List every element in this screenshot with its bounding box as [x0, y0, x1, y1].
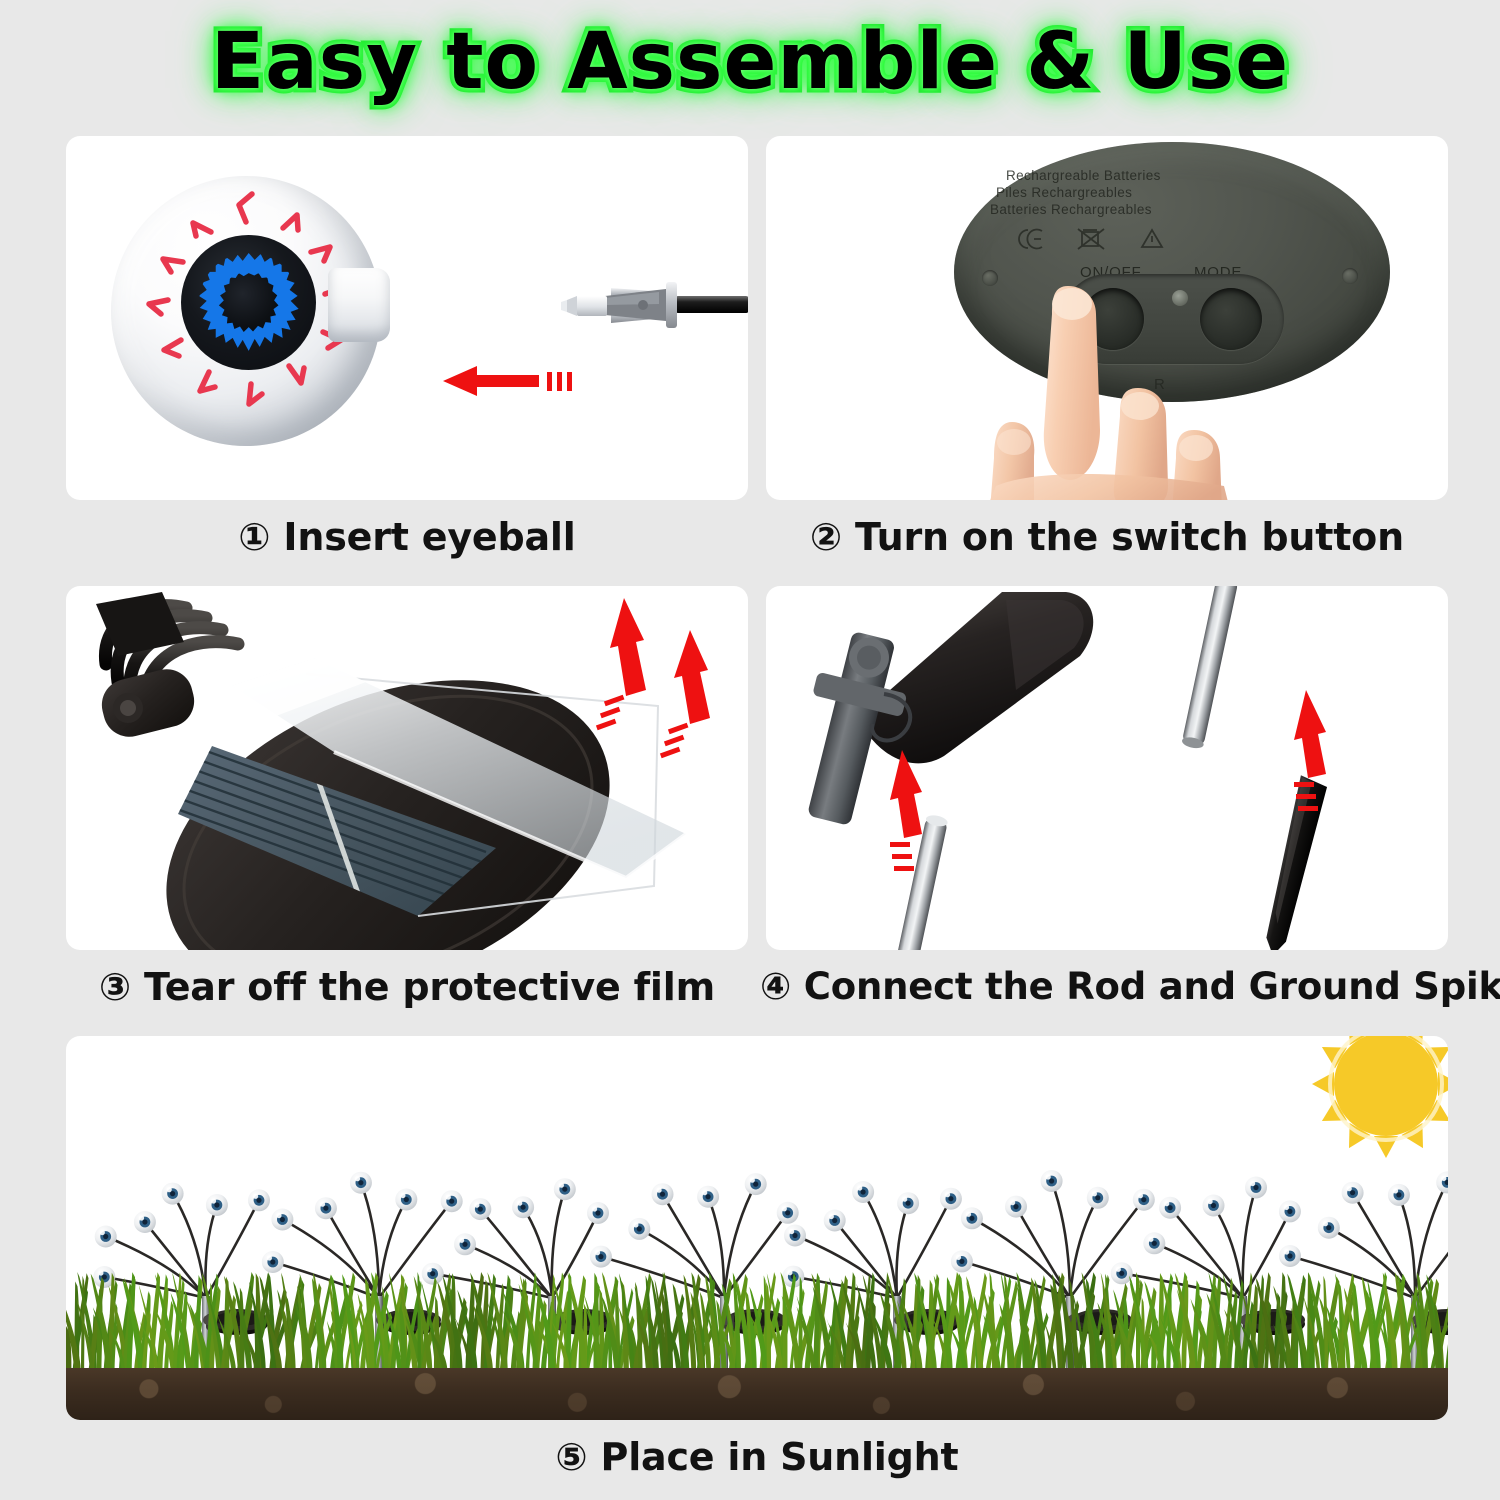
eyeball-light — [395, 1189, 417, 1211]
eyeball-light — [1278, 1200, 1300, 1222]
eyeball-light — [134, 1211, 156, 1233]
soil-strip — [66, 1368, 1448, 1420]
metal-rod — [895, 814, 948, 950]
eyeball-light — [1245, 1177, 1267, 1199]
eyeball-light — [1436, 1171, 1448, 1193]
up-arrow-icon — [596, 598, 646, 730]
wheelie-bin-crossed-icon — [1078, 229, 1104, 249]
step-3-caption: ③ Tear off the protective film — [66, 964, 748, 1010]
solar-head-socket — [784, 592, 1094, 832]
eyeball-light — [897, 1192, 919, 1214]
battery-cover-line-3: Batteries Rechargreables — [990, 202, 1152, 218]
ground-spike — [1263, 775, 1328, 950]
eyeball-light — [961, 1207, 983, 1229]
warning-triangle-icon — [1142, 230, 1162, 247]
step-3-panel — [66, 586, 748, 950]
left-arrow-icon — [443, 364, 583, 398]
step-1-caption: ① Insert eyeball — [66, 514, 748, 560]
step-1-panel — [66, 136, 748, 500]
eyeball-light — [1159, 1197, 1181, 1219]
lawn-scene — [66, 1036, 1448, 1420]
eyeball-light — [587, 1202, 609, 1224]
eyeball-light — [1143, 1232, 1165, 1254]
rod-and-spike-diagram — [766, 586, 1448, 950]
solar-panel-head — [66, 586, 748, 950]
eyeball-light — [1005, 1196, 1027, 1218]
eyeball-light — [940, 1188, 962, 1210]
hand-pressing-button — [972, 280, 1262, 500]
eyeball-light — [440, 1190, 462, 1212]
eyeball-light — [1202, 1195, 1224, 1217]
up-arrow-icon — [660, 630, 710, 758]
step-4-caption: ④ Connect the Rod and Ground Spike — [760, 964, 1456, 1010]
eyeball-light — [629, 1218, 651, 1240]
eyeball-light — [1040, 1170, 1062, 1192]
eyeball-light — [350, 1172, 372, 1194]
grass-blades — [66, 1264, 1448, 1372]
eyeball-light — [745, 1173, 767, 1195]
eyeball-light — [1388, 1184, 1410, 1206]
eyeball-light — [1318, 1217, 1340, 1239]
eyeball-light — [852, 1181, 874, 1203]
eyeball-light — [454, 1233, 476, 1255]
connector-part — [559, 278, 748, 334]
eyeball-light — [271, 1209, 293, 1231]
battery-cover-line-1: Rechargreable Batteries — [1006, 168, 1161, 184]
eyeball-light — [315, 1197, 337, 1219]
metal-rod — [1181, 586, 1238, 750]
eyeball-light — [206, 1194, 228, 1216]
step-5-panel — [66, 1036, 1448, 1420]
eyeball-light — [1087, 1187, 1109, 1209]
step-2-panel: Rechargreable Batteries Piles Rechargrea… — [766, 136, 1448, 500]
eyeball-light — [652, 1183, 674, 1205]
step-4-panel — [766, 586, 1448, 950]
grass-strip — [66, 1264, 1448, 1372]
eyeball-light — [248, 1189, 270, 1211]
eyeball-socket-nub — [328, 268, 390, 342]
compliance-symbols — [1016, 226, 1186, 252]
eyeball-light — [777, 1202, 799, 1224]
eyeball-light — [1342, 1182, 1364, 1204]
eyeball-light — [1133, 1189, 1155, 1211]
eyeball-light — [469, 1198, 491, 1220]
eyeball-light — [512, 1196, 534, 1218]
cover-screw — [1342, 268, 1358, 284]
step-2-caption: ② Turn on the switch button — [766, 514, 1448, 560]
eyeball-light — [553, 1178, 575, 1200]
eyeball-iris — [181, 235, 316, 370]
infographic-page: Easy to Assemble & Use — [0, 0, 1500, 1500]
eyeball-light — [784, 1225, 806, 1247]
eyeball-light — [162, 1183, 184, 1205]
battery-cover-line-2: Piles Rechargreables — [996, 185, 1132, 201]
page-title: Easy to Assemble & Use — [0, 16, 1500, 108]
eyeball-light — [95, 1226, 117, 1248]
up-arrow-icon — [890, 750, 922, 871]
step-5-caption: ⑤ Place in Sunlight — [66, 1434, 1448, 1480]
eyeball-light — [824, 1210, 846, 1232]
eyeball-light — [697, 1186, 719, 1208]
